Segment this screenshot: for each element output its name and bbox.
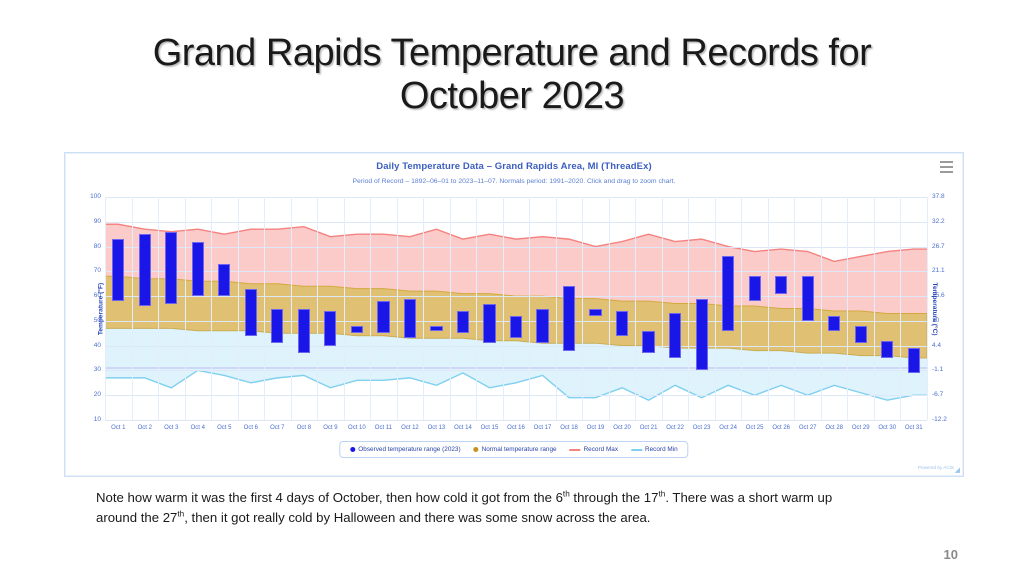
x-axis-tick-label: Oct 11: [375, 425, 392, 431]
y-axis-secondary-tick-label: -12.2: [932, 416, 947, 423]
observed-range-bar[interactable]: [404, 299, 416, 339]
gridline: [317, 197, 318, 420]
gridline: [105, 247, 927, 248]
x-axis-tick-label: Oct 28: [825, 425, 843, 431]
x-axis-tick-label: Oct 1: [111, 425, 125, 431]
y-axis-secondary-tick-label: 32.2: [932, 218, 945, 225]
legend-label: Record Min: [645, 446, 678, 453]
x-axis-tick-label: Oct 13: [428, 425, 446, 431]
y-axis-tick-label: 80: [94, 243, 101, 250]
observed-range-bar[interactable]: [430, 326, 442, 331]
chart-title: Daily Temperature Data – Grand Rapids Ar…: [65, 161, 963, 172]
observed-range-bar[interactable]: [271, 309, 283, 344]
x-axis-tick-label: Oct 29: [852, 425, 870, 431]
gridline: [291, 197, 292, 420]
y-axis-tick-label: 90: [94, 218, 101, 225]
x-axis-tick-label: Oct 2: [138, 425, 152, 431]
observed-range-bar[interactable]: [669, 313, 681, 358]
observed-range-bar[interactable]: [324, 311, 336, 346]
menu-icon-bar: [940, 161, 953, 163]
gridline: [662, 197, 663, 420]
gridline: [105, 370, 927, 371]
observed-range-bar[interactable]: [855, 326, 867, 343]
legend-item[interactable]: Record Min: [631, 446, 678, 453]
resize-grip-icon[interactable]: ◢: [955, 466, 960, 474]
x-axis-tick-label: Oct 10: [348, 425, 366, 431]
x-axis-tick-label: Oct 7: [270, 425, 284, 431]
note-text-1: Note how warm it was the first 4 days of…: [96, 490, 563, 505]
observed-range-bar[interactable]: [722, 256, 734, 330]
y-axis-secondary-tick-label: 26.7: [932, 243, 945, 250]
x-axis-tick-label: Oct 17: [534, 425, 552, 431]
chart-legend[interactable]: Observed temperature range (2023)Normal …: [339, 441, 688, 458]
gridline: [715, 197, 716, 420]
gridline: [105, 197, 106, 420]
y-axis-secondary-tick-label: -6.7: [932, 391, 943, 398]
gridline: [344, 197, 345, 420]
x-axis-tick-label: Oct 22: [666, 425, 684, 431]
gridline: [185, 197, 186, 420]
chart-subtitle: Period of Record – 1892–06–01 to 2023–11…: [65, 178, 963, 185]
note-sup-1: th: [563, 490, 570, 499]
gridline: [238, 197, 239, 420]
observed-range-bar[interactable]: [457, 311, 469, 333]
x-axis-tick-label: Oct 16: [507, 425, 525, 431]
menu-icon-bar: [940, 171, 953, 173]
chart-credit: Powered by ACIS: [918, 465, 954, 470]
observed-range-bar[interactable]: [589, 309, 601, 316]
x-axis-tick-label: Oct 15: [481, 425, 499, 431]
y-axis-secondary-tick-label: -1.1: [932, 366, 943, 373]
y-axis-secondary-tick-label: 37.8: [932, 193, 945, 200]
gridline: [927, 197, 928, 420]
observed-range-bar[interactable]: [749, 276, 761, 301]
x-axis-tick-label: Oct 27: [799, 425, 817, 431]
x-axis-tick-label: Oct 25: [746, 425, 764, 431]
gridline: [821, 197, 822, 420]
observed-range-bar[interactable]: [139, 234, 151, 306]
x-axis-tick-label: Oct 24: [719, 425, 737, 431]
y-axis-tick-label: 30: [94, 366, 101, 373]
note-text-4: , then it got really cold by Halloween a…: [184, 510, 650, 525]
gridline: [211, 197, 212, 420]
legend-item[interactable]: Normal temperature range: [474, 446, 557, 453]
x-axis-tick-label: Oct 6: [244, 425, 258, 431]
y-axis-secondary-tick-label: 4.4: [932, 342, 941, 349]
gridline: [556, 197, 557, 420]
gridline: [132, 197, 133, 420]
observed-range-bar[interactable]: [536, 309, 548, 344]
observed-range-bar[interactable]: [908, 348, 920, 373]
legend-line-icon: [631, 449, 642, 451]
observed-range-bar[interactable]: [563, 286, 575, 350]
y-axis-secondary-tick-label: 21.1: [932, 267, 945, 274]
observed-range-bar[interactable]: [112, 239, 124, 301]
legend-line-icon: [570, 449, 581, 451]
y-axis-right-label: Temperature (°C): [931, 282, 938, 335]
gridline: [105, 222, 927, 223]
gridline: [768, 197, 769, 420]
page-title: Grand Rapids Temperature and Records for…: [60, 32, 964, 117]
x-axis-tick-label: Oct 9: [323, 425, 337, 431]
menu-icon-bar: [940, 166, 953, 168]
legend-label: Observed temperature range (2023): [358, 446, 460, 453]
gridline: [450, 197, 451, 420]
gridline: [874, 197, 875, 420]
temperature-chart[interactable]: Daily Temperature Data – Grand Rapids Ar…: [64, 152, 964, 477]
gridline: [582, 197, 583, 420]
gridline: [635, 197, 636, 420]
gridline: [900, 197, 901, 420]
legend-label: Record Max: [584, 446, 618, 453]
x-axis-tick-label: Oct 30: [878, 425, 896, 431]
gridline: [105, 197, 927, 198]
legend-dot-icon: [350, 447, 355, 452]
observed-range-bar[interactable]: [483, 304, 495, 344]
observed-range-bar[interactable]: [642, 331, 654, 353]
x-axis-tick-label: Oct 4: [191, 425, 205, 431]
observed-range-bar[interactable]: [802, 276, 814, 321]
gridline: [370, 197, 371, 420]
x-axis-tick-label: Oct 21: [640, 425, 658, 431]
note-text-2: through the 17: [570, 490, 659, 505]
x-axis-tick-label: Oct 18: [560, 425, 578, 431]
x-axis-tick-label: Oct 23: [693, 425, 711, 431]
slide-note: Note how warm it was the first 4 days of…: [96, 488, 876, 529]
gridline: [529, 197, 530, 420]
y-axis-tick-label: 70: [94, 267, 101, 274]
page-number: 10: [944, 547, 958, 562]
gridline: [264, 197, 265, 420]
observed-range-bar[interactable]: [351, 326, 363, 333]
x-axis-tick-label: Oct 20: [613, 425, 631, 431]
x-axis-tick-label: Oct 19: [587, 425, 605, 431]
gridline: [105, 420, 927, 421]
plot-area[interactable]: 100908070605040302010 37.832.226.721.115…: [105, 197, 927, 420]
observed-range-bar[interactable]: [828, 316, 840, 331]
observed-range-bar[interactable]: [298, 309, 310, 354]
gridline: [423, 197, 424, 420]
x-axis-tick-label: Oct 8: [297, 425, 311, 431]
observed-range-bar[interactable]: [192, 242, 204, 297]
y-axis-tick-label: 20: [94, 391, 101, 398]
gridline: [741, 197, 742, 420]
gridline: [105, 346, 927, 347]
legend-item[interactable]: Record Max: [570, 446, 618, 453]
x-axis-tick-label: Oct 31: [905, 425, 923, 431]
observed-range-bar[interactable]: [218, 264, 230, 296]
observed-range-bar[interactable]: [245, 289, 257, 336]
observed-range-bar[interactable]: [775, 276, 787, 293]
y-axis-tick-label: 40: [94, 342, 101, 349]
gridline: [105, 395, 927, 396]
y-axis-tick-label: 10: [94, 416, 101, 423]
observed-range-bar[interactable]: [696, 299, 708, 371]
y-axis-left-label: Temperature (°F): [98, 282, 105, 334]
gridline: [688, 197, 689, 420]
observed-range-bar[interactable]: [616, 311, 628, 336]
observed-range-bar[interactable]: [377, 301, 389, 333]
gridline: [794, 197, 795, 420]
legend-label: Normal temperature range: [482, 446, 557, 453]
x-axis-tick-label: Oct 3: [164, 425, 178, 431]
y-axis-tick-label: 100: [90, 193, 101, 200]
gridline: [397, 197, 398, 420]
gridline: [158, 197, 159, 420]
hamburger-menu-icon[interactable]: [940, 161, 953, 173]
x-axis-tick-label: Oct 14: [454, 425, 472, 431]
legend-item[interactable]: Observed temperature range (2023): [350, 446, 460, 453]
legend-dot-icon: [474, 447, 479, 452]
gridline: [476, 197, 477, 420]
gridline: [609, 197, 610, 420]
observed-range-bar[interactable]: [881, 341, 893, 358]
gridline: [847, 197, 848, 420]
x-axis-tick-label: Oct 12: [401, 425, 419, 431]
observed-range-bar[interactable]: [165, 232, 177, 304]
gridline: [503, 197, 504, 420]
x-axis-tick-label: Oct 5: [217, 425, 231, 431]
x-axis-tick-label: Oct 26: [772, 425, 790, 431]
observed-range-bar[interactable]: [510, 316, 522, 338]
